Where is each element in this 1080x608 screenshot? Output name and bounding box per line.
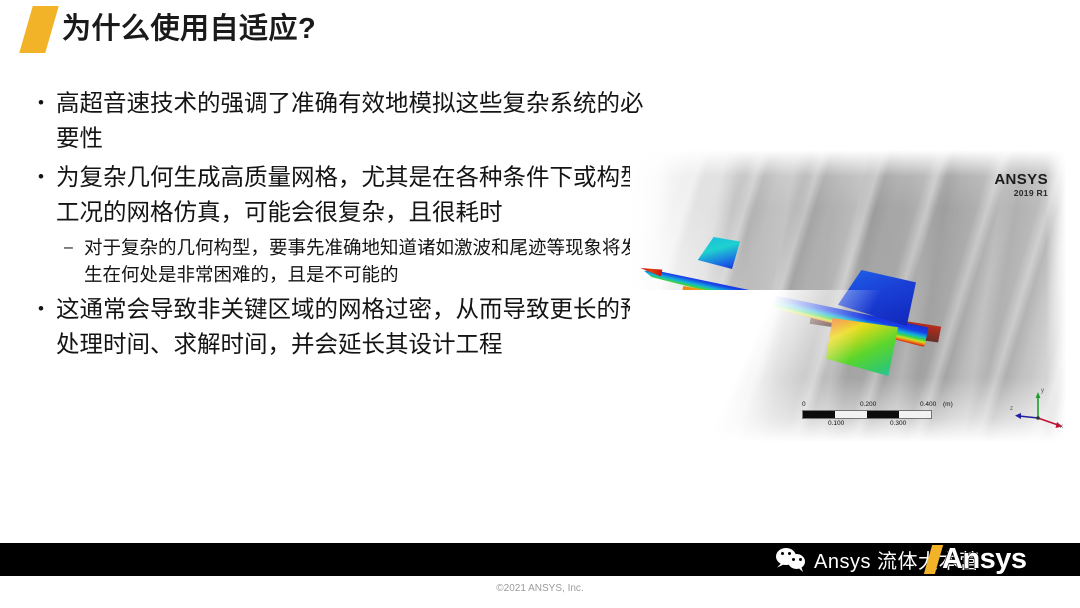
forward-canard-upper: [696, 237, 740, 269]
cfd-simulation-image: ANSYS 2019 R1 0 0.200 0.400 (m) 0.100 0.…: [630, 150, 1080, 442]
scale-tick-200: 0.200: [860, 401, 876, 408]
axis-triad-svg: [1010, 388, 1066, 434]
scale-bar: 0 0.200 0.400 (m) 0.100 0.300: [802, 401, 950, 430]
scale-bar-top-labels: 0 0.200 0.400 (m): [802, 401, 950, 410]
scale-seg-3: [867, 411, 899, 418]
scale-tick-400: 0.400: [920, 401, 936, 408]
scale-seg-1: [803, 411, 835, 418]
ansys-logo: Ansys: [928, 541, 1027, 577]
scale-unit: (m): [943, 401, 953, 408]
scale-seg-4: [899, 411, 931, 418]
axis-label-y: y: [1041, 388, 1044, 394]
scale-bar-graphic: [802, 410, 932, 419]
list-item: 高超音速技术的强调了准确有效地模拟这些复杂系统的必要性: [34, 86, 644, 156]
ansys-logo-text: Ansys: [942, 544, 1027, 574]
list-item-sub: 对于复杂的几何构型，要事先准确地知道诸如激波和尾迹等现象将发生在何处是非常困难的…: [34, 234, 644, 288]
axis-triad-icon: y x z: [1010, 388, 1066, 434]
watermark-release: 2019 R1: [994, 189, 1048, 198]
scale-bar-bottom-labels: 0.100 0.300: [802, 420, 950, 430]
page-title: 为什么使用自适应?: [26, 6, 316, 58]
list-item: 这通常会导致非关键区域的网格过密，从而导致更长的预处理时间、求解时间，并会延长其…: [34, 292, 644, 362]
scale-tick-100: 0.100: [828, 420, 844, 427]
title-accent-slash-icon: [19, 6, 58, 53]
axis-label-x: x: [1060, 424, 1063, 430]
copyright-notice: ©2021 ANSYS, Inc.: [0, 583, 1080, 594]
list-item: 为复杂几何生成高质量网格，尤其是在各种条件下或构型工况的网格仿真，可能会很复杂，…: [34, 160, 644, 230]
slide-canvas: 为什么使用自适应? 高超音速技术的强调了准确有效地模拟这些复杂系统的必要性 为复…: [0, 0, 1080, 608]
scale-tick-300: 0.300: [890, 420, 906, 427]
ansys-watermark: ANSYS 2019 R1: [994, 172, 1048, 198]
wechat-bubble-small: [788, 554, 805, 569]
title-label: 为什么使用自适应?: [62, 6, 316, 53]
scale-tick-0: 0: [802, 401, 806, 408]
watermark-brand: ANSYS: [994, 172, 1048, 187]
axis-label-z: z: [1010, 406, 1013, 412]
wechat-icon: [776, 547, 807, 572]
bullet-list: 高超音速技术的强调了准确有效地模拟这些复杂系统的必要性 为复杂几何生成高质量网格…: [34, 86, 644, 366]
scale-seg-2: [835, 411, 867, 418]
